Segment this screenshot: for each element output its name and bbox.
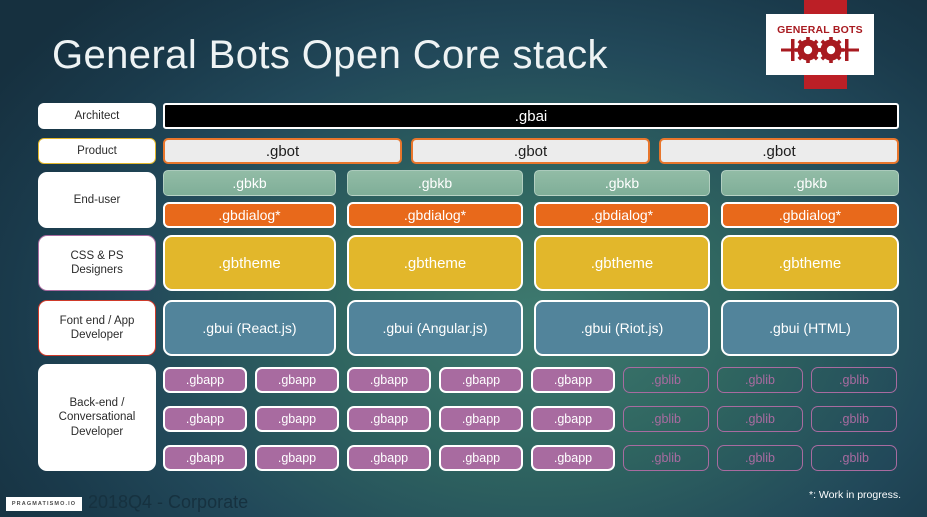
box-gblib[interactable]: .gblib [811, 367, 897, 393]
row-gbapp-gblib-1: .gbapp .gbapp .gbapp .gbapp .gbapp .gbli… [163, 367, 899, 393]
slide-canvas: General Bots Open Core stack GENERAL BOT… [0, 0, 927, 517]
row-gbapp-gblib-2: .gbapp .gbapp .gbapp .gbapp .gbapp .gbli… [163, 406, 899, 432]
box-gbkb[interactable]: .gbkb [347, 170, 523, 196]
box-label: .gbapp [278, 451, 316, 465]
box-label: .gbot [266, 143, 299, 160]
box-gbapp[interactable]: .gbapp [255, 367, 339, 393]
box-gbapp[interactable]: .gbapp [531, 445, 615, 471]
row-gbdialog: .gbdialog* .gbdialog* .gbdialog* .gbdial… [163, 202, 899, 228]
box-label: .gbapp [370, 451, 408, 465]
box-gblib[interactable]: .gblib [623, 406, 709, 432]
box-gbapp[interactable]: .gbapp [531, 367, 615, 393]
row-gbai: .gbai [163, 103, 899, 129]
box-label: .gblib [745, 412, 775, 426]
box-gbapp[interactable]: .gbapp [163, 367, 247, 393]
box-label: .gbapp [370, 412, 408, 426]
box-gblib[interactable]: .gblib [717, 406, 803, 432]
pragmatismo-wordmark: PRAGMATISMO.IO [12, 501, 76, 507]
box-gbapp[interactable]: .gbapp [255, 406, 339, 432]
box-gbkb[interactable]: .gbkb [721, 170, 899, 196]
box-label: .gbapp [186, 412, 224, 426]
box-label: .gbui (Riot.js) [581, 320, 663, 336]
box-label: .gbot [514, 143, 547, 160]
box-gbapp[interactable]: .gbapp [531, 406, 615, 432]
box-label: .gblib [839, 412, 869, 426]
box-label: .gbapp [278, 373, 316, 387]
box-gbtheme[interactable]: .gbtheme [721, 235, 899, 291]
box-label: .gbapp [278, 412, 316, 426]
box-label: .gbtheme [404, 255, 467, 272]
box-gbdialog[interactable]: .gbdialog* [721, 202, 899, 228]
box-gblib[interactable]: .gblib [811, 406, 897, 432]
box-gbot[interactable]: .gbot [163, 138, 402, 164]
footer-caption: 2018Q4 - Corporate [88, 492, 248, 513]
box-gbapp[interactable]: .gbapp [347, 367, 431, 393]
box-label: .gbkb [418, 175, 452, 191]
box-label: .gblib [651, 451, 681, 465]
box-label: .gbdialog* [591, 207, 653, 223]
box-label: .gbapp [462, 412, 500, 426]
box-label: .gbkb [605, 175, 639, 191]
row-gbui: .gbui (React.js) .gbui (Angular.js) .gbu… [163, 300, 899, 356]
box-label: .gbapp [462, 373, 500, 387]
box-gbapp[interactable]: .gbapp [439, 406, 523, 432]
box-gbapp[interactable]: .gbapp [347, 406, 431, 432]
stack-diagram: .gbai .gbot .gbot .gbot .gbkb .gbkb [0, 0, 927, 517]
box-label: .gblib [651, 412, 681, 426]
box-gbapp[interactable]: .gbapp [163, 445, 247, 471]
box-label: .gbai [515, 108, 548, 125]
box-gbdialog[interactable]: .gbdialog* [534, 202, 710, 228]
row-gbapp-gblib-3: .gbapp .gbapp .gbapp .gbapp .gbapp .gbli… [163, 445, 899, 471]
box-gblib[interactable]: .gblib [717, 367, 803, 393]
box-gbtheme[interactable]: .gbtheme [163, 235, 336, 291]
box-gbui-react[interactable]: .gbui (React.js) [163, 300, 336, 356]
box-gblib[interactable]: .gblib [811, 445, 897, 471]
box-label: .gbapp [462, 451, 500, 465]
box-gblib[interactable]: .gblib [623, 367, 709, 393]
box-gbui-angular[interactable]: .gbui (Angular.js) [347, 300, 523, 356]
box-gbapp[interactable]: .gbapp [347, 445, 431, 471]
box-gbdialog[interactable]: .gbdialog* [347, 202, 523, 228]
box-label: .gblib [651, 373, 681, 387]
box-gbui-html[interactable]: .gbui (HTML) [721, 300, 899, 356]
box-gbdialog[interactable]: .gbdialog* [163, 202, 336, 228]
box-label: .gbui (Angular.js) [382, 320, 487, 336]
box-gbtheme[interactable]: .gbtheme [347, 235, 523, 291]
box-gblib[interactable]: .gblib [623, 445, 709, 471]
row-gbot: .gbot .gbot .gbot [163, 138, 899, 164]
row-gbkb: .gbkb .gbkb .gbkb .gbkb [163, 170, 899, 196]
pragmatismo-logo: PRAGMATISMO.IO [6, 497, 82, 511]
box-gbtheme[interactable]: .gbtheme [534, 235, 710, 291]
row-gbtheme: .gbtheme .gbtheme .gbtheme .gbtheme [163, 235, 899, 291]
box-label: .gbui (React.js) [202, 320, 296, 336]
box-label: .gbapp [186, 373, 224, 387]
box-label: .gbui (HTML) [769, 320, 851, 336]
box-label: .gbapp [554, 412, 592, 426]
box-label: .gbdialog* [779, 207, 841, 223]
box-label: .gbapp [554, 451, 592, 465]
box-label: .gbtheme [591, 255, 654, 272]
box-label: .gbdialog* [404, 207, 466, 223]
box-gbai[interactable]: .gbai [163, 103, 899, 129]
box-gbot[interactable]: .gbot [659, 138, 899, 164]
box-label: .gbapp [186, 451, 224, 465]
box-label: .gblib [839, 373, 869, 387]
box-label: .gbkb [232, 175, 266, 191]
box-label: .gbapp [554, 373, 592, 387]
box-gbapp[interactable]: .gbapp [439, 445, 523, 471]
box-label: .gbkb [793, 175, 827, 191]
box-gbkb[interactable]: .gbkb [534, 170, 710, 196]
box-label: .gbapp [370, 373, 408, 387]
box-label: .gbdialog* [218, 207, 280, 223]
box-label: .gblib [745, 451, 775, 465]
box-label: .gbot [762, 143, 795, 160]
box-label: .gblib [745, 373, 775, 387]
box-label: .gbtheme [779, 255, 842, 272]
box-gbapp[interactable]: .gbapp [439, 367, 523, 393]
box-gbui-riot[interactable]: .gbui (Riot.js) [534, 300, 710, 356]
box-gblib[interactable]: .gblib [717, 445, 803, 471]
box-gbot[interactable]: .gbot [411, 138, 650, 164]
footnote-work-in-progress: *: Work in progress. [809, 489, 901, 501]
box-label: .gblib [839, 451, 869, 465]
box-gbapp[interactable]: .gbapp [255, 445, 339, 471]
box-gbapp[interactable]: .gbapp [163, 406, 247, 432]
box-label: .gbtheme [218, 255, 281, 272]
box-gbkb[interactable]: .gbkb [163, 170, 336, 196]
